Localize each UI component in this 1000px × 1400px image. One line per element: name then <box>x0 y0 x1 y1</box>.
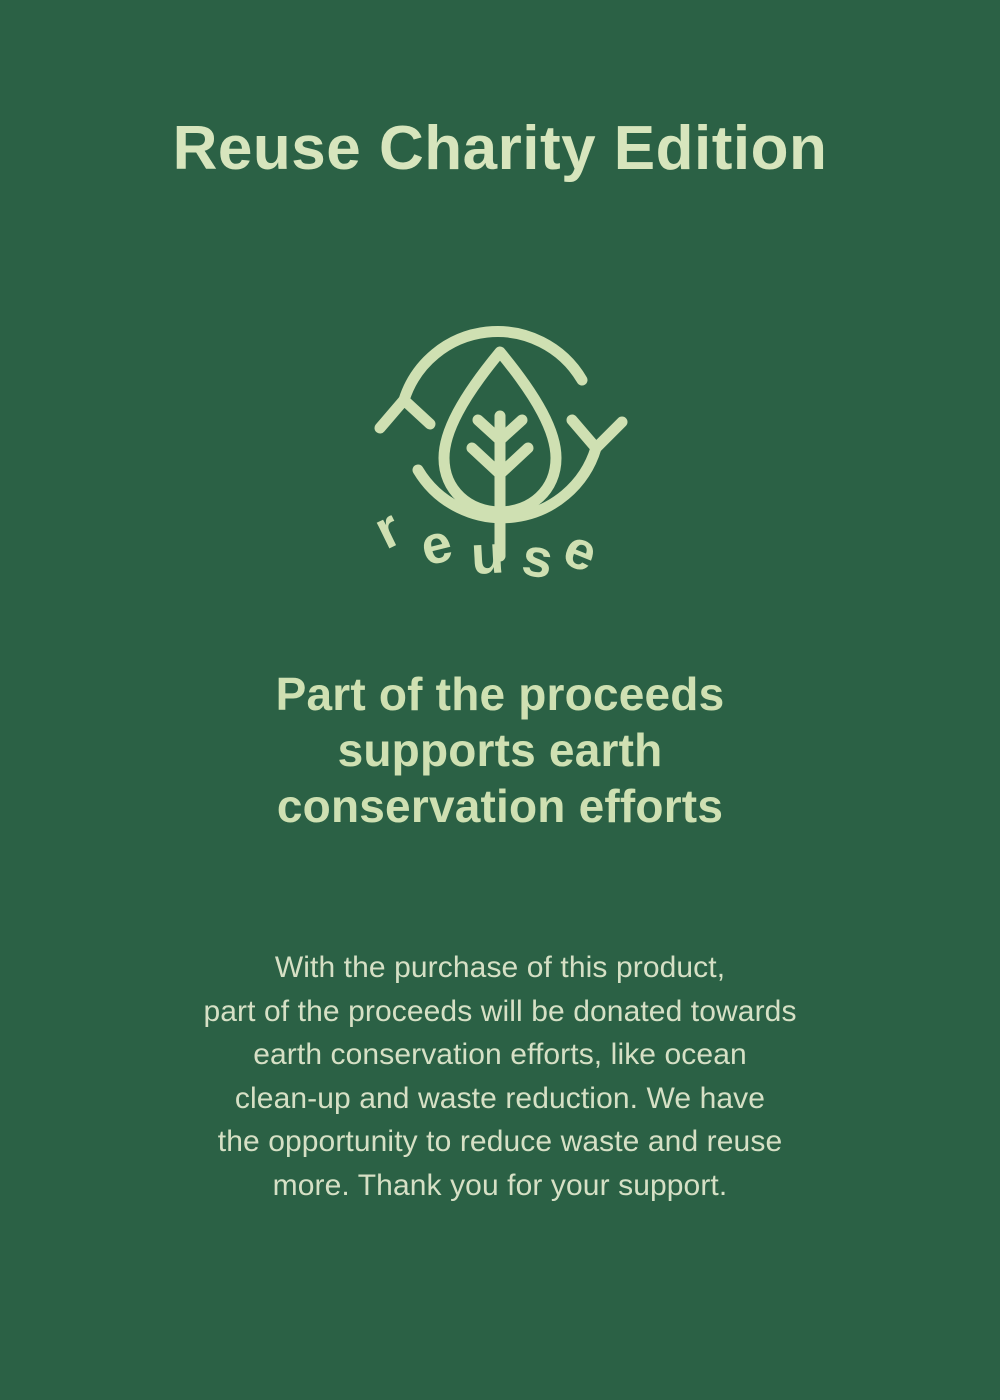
body-line-2: part of the proceeds will be donated tow… <box>0 990 1000 1034</box>
subtitle-line-2: supports earth <box>0 722 1000 778</box>
recycle-arrow-head-right <box>572 420 622 448</box>
charity-edition-card: Reuse Charity Edition <box>0 0 1000 1400</box>
body-line-6: more. Thank you for your support. <box>0 1164 1000 1208</box>
wordmark-letter-u: u <box>469 524 505 580</box>
body-line-3: earth conservation efforts, like ocean <box>0 1033 1000 1077</box>
wordmark-letter-e: e <box>414 512 458 577</box>
page-title: Reuse Charity Edition <box>0 112 1000 186</box>
reuse-leaf-recycle-icon: r e u s e <box>360 308 640 580</box>
subtitle-line-1: Part of the proceeds <box>0 666 1000 722</box>
subtitle: Part of the proceeds supports earth cons… <box>0 666 1000 834</box>
reuse-logo: r e u s e <box>360 308 640 580</box>
wordmark-letter-s: s <box>518 527 557 580</box>
subtitle-line-3: conservation efforts <box>0 778 1000 834</box>
wordmark-letter-r: r <box>365 498 410 561</box>
recycle-arrow-head-left <box>380 400 430 428</box>
body-paragraph: With the purchase of this product, part … <box>0 946 1000 1207</box>
body-line-5: the opportunity to reduce waste and reus… <box>0 1120 1000 1164</box>
wordmark-letter-e2: e <box>556 517 606 580</box>
body-line-1: With the purchase of this product, <box>0 946 1000 990</box>
body-line-4: clean-up and waste reduction. We have <box>0 1077 1000 1121</box>
